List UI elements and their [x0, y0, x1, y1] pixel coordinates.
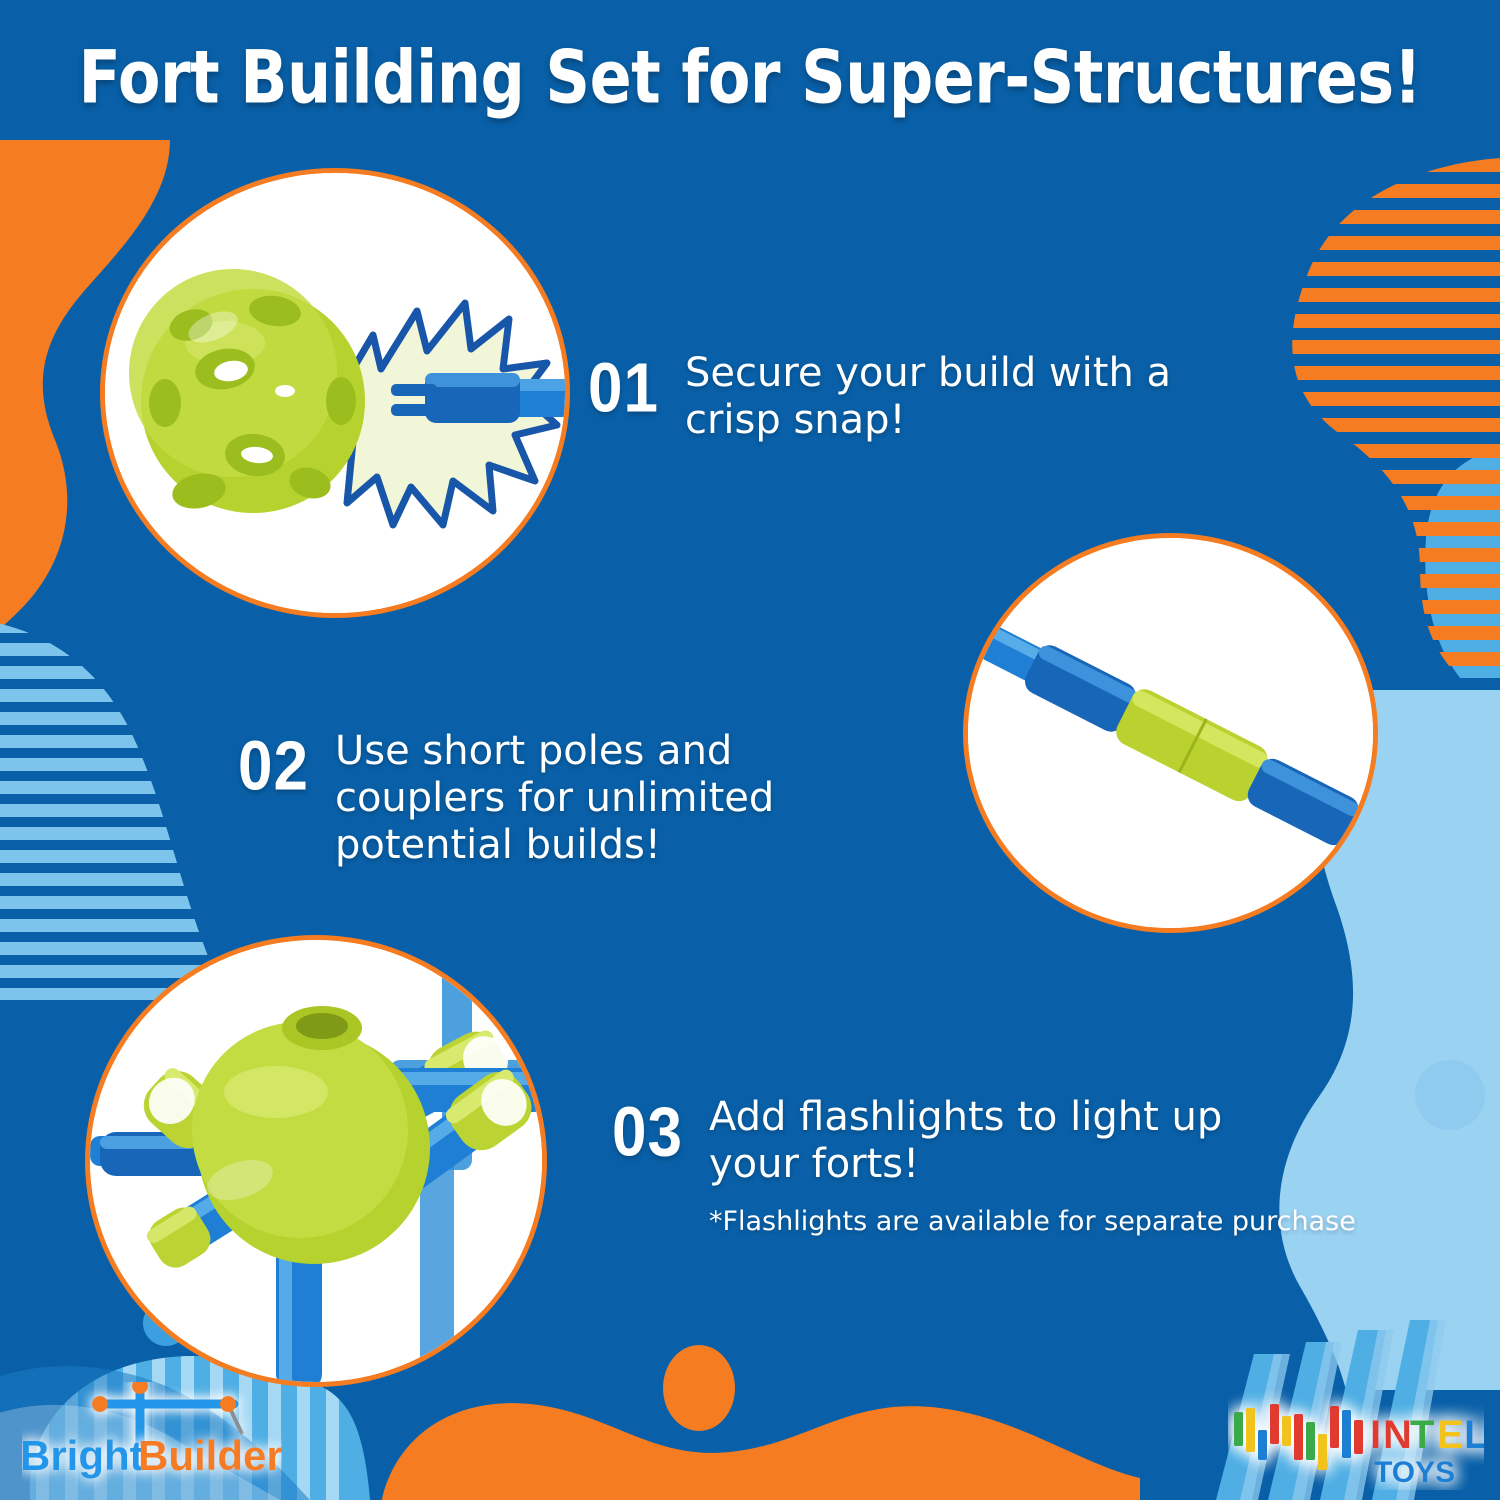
intellio-bar	[1330, 1406, 1339, 1448]
intellio-bar	[1354, 1420, 1363, 1454]
company-logo-intellio-toys: INTELLIO TOYS	[1228, 1390, 1484, 1490]
step-3-number: 03	[612, 1094, 683, 1168]
step-3-disclaimer: *Flashlights are available for separate …	[709, 1206, 1356, 1238]
step-1-number: 01	[588, 350, 659, 424]
infographic-canvas: Fort Building Set for Super-Structures!	[0, 0, 1500, 1500]
step-1: 01 Secure your build with a crisp snap!	[588, 350, 1205, 444]
light-blue-circle-accent	[1415, 1060, 1485, 1130]
orange-circle-accent	[663, 1345, 735, 1431]
intellio-bar	[1282, 1416, 1291, 1446]
step-2-text: Use short poles and couplers for unlimit…	[335, 728, 915, 870]
svg-text:Bright: Bright	[22, 1432, 144, 1479]
intellio-bars-icon	[1234, 1404, 1363, 1470]
intellio-bar	[1258, 1430, 1267, 1460]
intellio-letter: E	[1437, 1413, 1464, 1457]
intellio-bar	[1306, 1422, 1315, 1460]
svg-text:Builder: Builder	[138, 1432, 282, 1479]
page-title: Fort Building Set for Super-Structures!	[0, 34, 1500, 120]
light-blue-stripes-left	[0, 620, 240, 1000]
step-2: 02 Use short poles and couplers for unli…	[238, 728, 915, 870]
step-3-text: Add flashlights to light up your forts!	[709, 1094, 1319, 1188]
step-3: 03 Add flashlights to light up your fort…	[612, 1094, 1356, 1239]
photo-step-2-pole-coupler	[963, 533, 1378, 933]
step-1-text: Secure your build with a crisp snap!	[685, 350, 1205, 444]
photo-step-3-hub-flashlights	[85, 935, 547, 1387]
intellio-letter: L	[1464, 1413, 1484, 1457]
intellio-letter: T	[1410, 1413, 1434, 1457]
intellio-bar	[1246, 1408, 1255, 1452]
intellio-bar	[1318, 1434, 1327, 1470]
intellio-bar	[1234, 1412, 1243, 1446]
step-2-number: 02	[238, 728, 309, 802]
intellio-letter: I	[1370, 1413, 1381, 1457]
orange-wave-bottom	[380, 1300, 1140, 1500]
photo-step-1-ball-snap	[100, 168, 570, 618]
svg-text:TOYS: TOYS	[1374, 1456, 1455, 1489]
brand-logo-bright-builder: Bright Builder	[22, 1382, 282, 1490]
intellio-bar	[1342, 1410, 1351, 1458]
intellio-bar	[1294, 1414, 1303, 1460]
intellio-bar	[1270, 1404, 1279, 1444]
intellio-letter: N	[1383, 1413, 1412, 1457]
